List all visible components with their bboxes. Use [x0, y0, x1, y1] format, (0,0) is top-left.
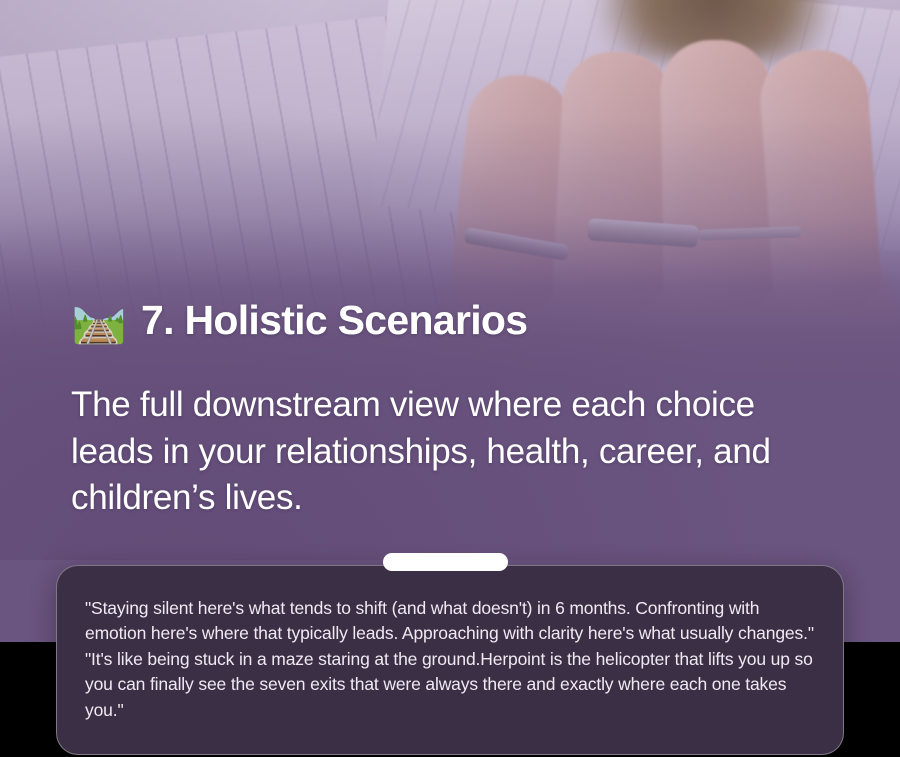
slide-canvas: 🛤️ 7. Holistic Scenarios The full downst… [0, 0, 900, 757]
railway-track-icon: 🛤️ [71, 296, 127, 346]
page-title: 7. Holistic Scenarios [141, 299, 527, 342]
quote-card: "Staying silent here's what tends to shi… [56, 565, 844, 755]
headline: 🛤️ 7. Holistic Scenarios [71, 296, 527, 346]
subtitle-text: The full downstream view where each choi… [71, 382, 831, 522]
card-drag-handle[interactable] [383, 553, 508, 571]
quote-text: "Staying silent here's what tends to shi… [85, 596, 815, 723]
